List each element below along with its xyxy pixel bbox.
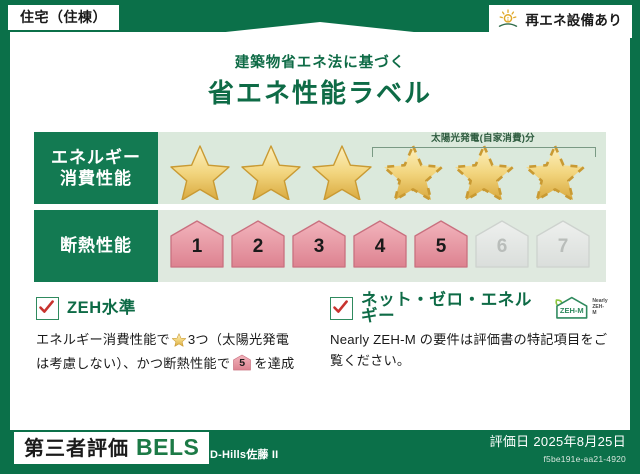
- bels-jp-label: 第三者評価: [24, 439, 129, 459]
- insulation-performance-label: 断熱性能: [34, 210, 158, 282]
- energy-performance-label: 住宅（住棟） ｴ 再エネ設備あり: [0, 0, 640, 474]
- check-icon: [332, 299, 349, 316]
- rating-rows: エネルギー 消費性能: [34, 132, 606, 288]
- star-icon-inline: [171, 332, 187, 353]
- energy-label-line2: 消費性能: [60, 168, 132, 189]
- energy-label-line1: エネルギー: [51, 147, 141, 168]
- insulation-badge-2-value: 2: [229, 237, 287, 256]
- insulation-label-line1: 断熱性能: [60, 235, 132, 256]
- svg-text:ZEH-M: ZEH-M: [560, 306, 584, 315]
- zeh-standard-block: ZEH水準 エネルギー消費性能で3つ（太陽光発電 は考慮しない）、かつ断熱性能で…: [36, 296, 314, 375]
- zeh-m-house-icon: ZEH-M: [551, 295, 591, 321]
- energy-performance-label: エネルギー 消費性能: [34, 132, 158, 204]
- insulation-badge-1-value: 1: [168, 237, 226, 256]
- house-type-tag: 住宅（住棟）: [8, 5, 119, 30]
- zeh-m-logo: ZEH-M Nearly ZEH-M: [551, 295, 608, 321]
- net-zero-energy-description: Nearly ZEH-M の要件は評価書の特記項目をご覧ください。: [330, 329, 608, 372]
- net-zero-energy-checkbox[interactable]: [330, 297, 353, 320]
- insulation-badge-5-value: 5: [412, 237, 470, 256]
- insulation-badge-inline: 5: [232, 354, 252, 371]
- net-zero-energy-block: ネット・ゼロ・エネルギー ZEH-M Nearly ZEH-M Nearl: [330, 296, 608, 375]
- evaluation-date: 評価日 2025年8月25日: [490, 435, 626, 448]
- evaluation-id: f5be191e-aa21-4920: [490, 455, 626, 464]
- insulation-badge-3: 3: [290, 218, 348, 270]
- insulation-level-badges: 1 2 3 4: [168, 218, 592, 270]
- star-icon-solar-dashed: [521, 142, 589, 200]
- title-subtitle: 建築物省エネ法に基づく: [10, 56, 630, 71]
- insulation-badge-3-value: 3: [290, 237, 348, 256]
- solar-sun-icon: ｴ: [497, 9, 519, 33]
- insulation-badge-6-value: 6: [473, 237, 531, 256]
- bels-evaluation-badge: 第三者評価 BELS: [14, 432, 209, 464]
- insulation-badge-7: 7: [534, 218, 592, 270]
- insulation-badge-7-value: 7: [534, 237, 592, 256]
- insulation-badge-6: 6: [473, 218, 531, 270]
- insulation-badge-2: 2: [229, 218, 287, 270]
- net-zero-energy-title: ネット・ゼロ・エネルギー: [361, 292, 539, 325]
- evaluation-info: 評価日 2025年8月25日 f5be191e-aa21-4920: [490, 435, 626, 464]
- insulation-badge-1: 1: [168, 218, 226, 270]
- insulation-badge-4-value: 4: [351, 237, 409, 256]
- net-zero-energy-heading: ネット・ゼロ・エネルギー ZEH-M Nearly ZEH-M: [330, 296, 608, 320]
- label-footer: 第三者評価 BELS D-Hills佐藤 II 評価日 2025年8月25日 f…: [0, 430, 640, 474]
- zeh-desc-starcount: 3つ（太陽光発電: [188, 332, 289, 347]
- insulation-performance-body: 1 2 3 4: [158, 210, 606, 282]
- zeh-m-sub-line2: ZEH-M: [592, 304, 604, 316]
- star-rating: [166, 142, 596, 200]
- zeh-m-logo-subtext: Nearly ZEH-M: [592, 299, 608, 316]
- zeh-standard-title: ZEH水準: [67, 300, 136, 317]
- zeh-desc-part2: は考慮しない）、かつ断熱性能で: [36, 356, 230, 371]
- insulation-badge-5: 5: [412, 218, 470, 270]
- renewable-tag-label: 再エネ設備あり: [525, 14, 622, 28]
- energy-performance-row: エネルギー 消費性能: [34, 132, 606, 204]
- zeh-desc-part1: エネルギー消費性能で: [36, 332, 170, 347]
- house-type-tag-label: 住宅（住棟）: [20, 9, 107, 25]
- label-card: 建築物省エネ法に基づく 省エネ性能ラベル エネルギー 消費性能: [10, 32, 630, 430]
- zeh-standard-heading: ZEH水準: [36, 296, 314, 320]
- star-icon-solid: [308, 142, 376, 200]
- star-icon-solid: [166, 142, 234, 200]
- svg-text:ｴ: ｴ: [507, 16, 510, 21]
- insulation-badge-4: 4: [351, 218, 409, 270]
- energy-performance-body: 太陽光発電(自家消費)分: [158, 132, 606, 204]
- zeh-section: ZEH水準 エネルギー消費性能で3つ（太陽光発電 は考慮しない）、かつ断熱性能で…: [36, 296, 608, 375]
- star-icon-solar-dashed: [450, 142, 518, 200]
- page-title: 省エネ性能ラベル: [10, 80, 630, 106]
- star-icon-solid: [237, 142, 305, 200]
- property-name: D-Hills佐藤 II: [210, 450, 278, 461]
- zeh-desc-part3: を達成: [254, 356, 294, 371]
- zeh-standard-checkbox[interactable]: [36, 297, 59, 320]
- insulation-performance-row: 断熱性能 1 2: [34, 210, 606, 282]
- check-icon: [38, 299, 55, 316]
- zeh-standard-description: エネルギー消費性能で3つ（太陽光発電 は考慮しない）、かつ断熱性能で5を達成: [36, 329, 314, 375]
- insulation-badge-inline-value: 5: [232, 358, 252, 369]
- star-icon-solar-dashed: [379, 142, 447, 200]
- bels-en-label: BELS: [136, 436, 199, 459]
- title-block: 建築物省エネ法に基づく 省エネ性能ラベル: [10, 56, 630, 106]
